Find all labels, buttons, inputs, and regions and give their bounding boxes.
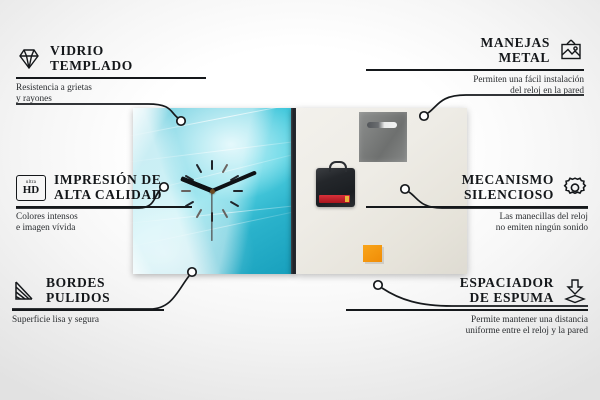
gear-icon	[562, 175, 588, 201]
polished-edge-lines-icon	[12, 278, 38, 304]
callout-tempered-glass: VIDRIO TEMPLADO Resistencia a grietas y …	[16, 44, 231, 105]
foam-spacer-pad	[363, 245, 382, 262]
ultra-hd-icon-large-label: HD	[23, 185, 40, 196]
callout-title-line2: DE ESPUMA	[460, 291, 554, 306]
callout-silent-mechanism: MECANISMO SILENCIOSO Las manecillas del …	[366, 173, 588, 234]
callout-sub-line2: uniforme entre el reloj y la pared	[346, 326, 588, 337]
ultra-hd-icon: ultra HD	[16, 175, 46, 201]
callout-metal-handles: MANEJAS METAL Permiten una fácil instala…	[366, 36, 584, 97]
callout-title-line1: ESPACIADOR	[460, 276, 554, 291]
metal-hanger-plate	[359, 112, 407, 162]
callout-title-line1: VIDRIO	[50, 44, 133, 59]
callout-rule	[346, 309, 588, 311]
callout-sub-line2: y rayones	[16, 94, 231, 105]
callout-title-line2: METAL	[481, 51, 550, 66]
callout-sub-line1: Las manecillas del reloj	[366, 212, 588, 223]
mechanism-hanging-loop	[329, 161, 347, 172]
callout-sub-line1: Colores intensos	[16, 212, 231, 223]
callout-rule	[366, 206, 588, 208]
callout-title-line2: TEMPLADO	[50, 59, 133, 74]
callout-rule	[16, 77, 206, 79]
silent-clock-mechanism	[316, 168, 355, 207]
callout-foam-spacer: ESPACIADOR DE ESPUMA Permite mantener un…	[346, 276, 588, 337]
callout-title-line2: SILENCIOSO	[462, 188, 554, 203]
down-arrow-onto-pad-icon	[562, 278, 588, 304]
infographic-canvas: VIDRIO TEMPLADO Resistencia a grietas y …	[0, 0, 600, 400]
callout-sub-line2: del reloj en la pared	[366, 86, 584, 97]
callout-rule	[16, 206, 192, 208]
callout-hd-print: ultra HD IMPRESIÓN DE ALTA CALIDAD Color…	[16, 173, 231, 234]
callout-sub-line2: e imagen vívida	[16, 223, 231, 234]
diamond-icon	[16, 46, 42, 72]
callout-title-line1: BORDES	[46, 276, 110, 291]
callout-title-line1: IMPRESIÓN DE	[54, 173, 162, 188]
callout-sub-line1: Superficie lisa y segura	[12, 315, 227, 326]
callout-title-line2: PULIDOS	[46, 291, 110, 306]
battery	[319, 195, 350, 203]
callout-title-line1: MANEJAS	[481, 36, 550, 51]
callout-sub-line1: Permiten una fácil instalación	[366, 75, 584, 86]
callout-rule	[12, 309, 164, 311]
hanging-picture-frame-icon	[558, 38, 584, 64]
callout-title-line1: MECANISMO	[462, 173, 554, 188]
callout-sub-line1: Resistencia a grietas	[16, 83, 231, 94]
callout-polished-edges: BORDES PULIDOS Superficie lisa y segura	[12, 276, 227, 326]
hanger-keyhole-slot	[367, 122, 397, 128]
callout-title-line2: ALTA CALIDAD	[54, 188, 162, 203]
callout-sub-line2: no emiten ningún sonido	[366, 223, 588, 234]
callout-rule	[366, 69, 584, 71]
callout-sub-line1: Permite mantener una distancia	[346, 315, 588, 326]
